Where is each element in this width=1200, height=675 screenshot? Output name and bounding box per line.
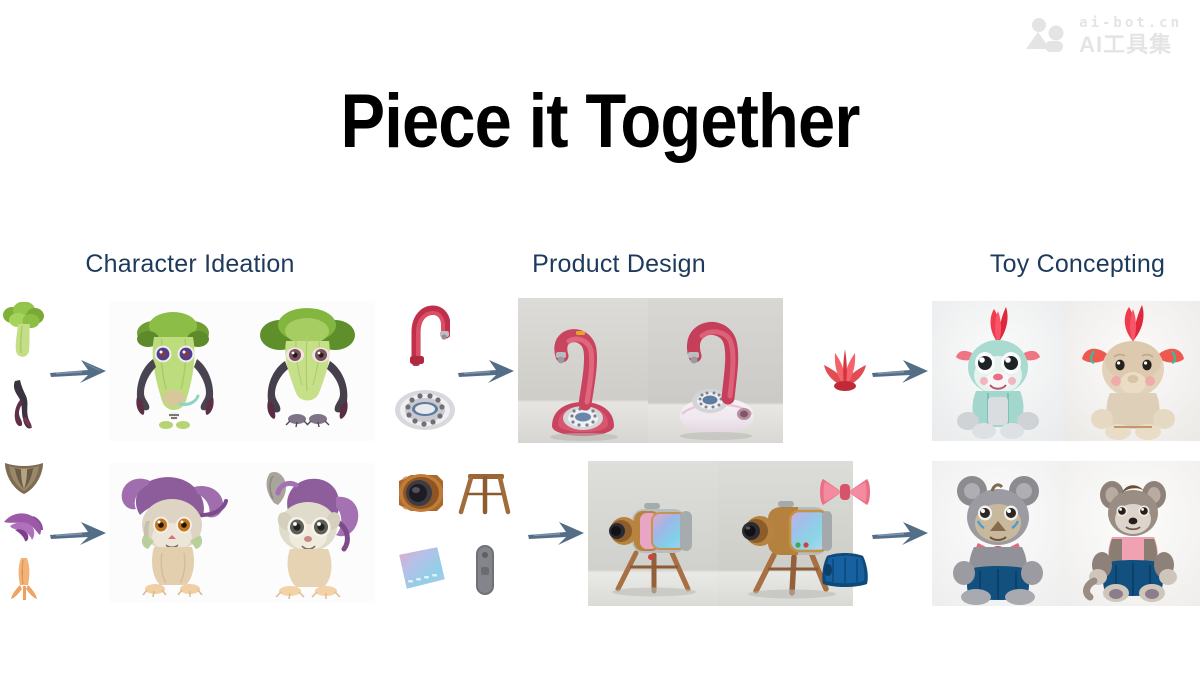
column-product-design: Product Design <box>380 250 810 630</box>
parts-cluster <box>820 298 870 443</box>
pipeline-board: Character Ideation <box>0 250 1200 630</box>
copper-camera-lens-part <box>393 467 449 524</box>
parts-cluster <box>380 458 526 608</box>
column-heading-character-ideation: Character Ideation <box>0 250 380 279</box>
blue-skirt-part <box>819 550 871 593</box>
wooden-tripod-legs-part <box>456 468 514 521</box>
watermark-domain: ai-bot.cn <box>1079 16 1182 30</box>
row-faucet-phone <box>394 298 783 443</box>
rotary-phone-dial-part <box>394 388 456 437</box>
output-pair <box>518 298 783 443</box>
watermark: ai-bot.cn AI工具集 <box>1025 16 1182 56</box>
tan-mohawk-plush-toy <box>1064 301 1200 441</box>
two-people-logo-icon <box>1025 16 1069 56</box>
retro-projector-concept-a <box>588 461 718 606</box>
column-toy-concepting: Toy Concepting <box>810 250 1200 630</box>
column-character-ideation: Character Ideation <box>0 250 380 630</box>
right-arrow-icon <box>48 354 110 388</box>
dark-antler-claw-part <box>7 378 41 439</box>
broccoli-creature-front-view <box>110 301 240 441</box>
row-retro-projector <box>380 458 853 608</box>
column-heading-toy-concepting: Toy Concepting <box>955 250 1200 279</box>
purple-hair-tuft-part <box>1 508 47 549</box>
output-pair <box>932 461 1200 606</box>
iridescent-screen-panel-part <box>392 542 450 599</box>
pink-faucet-phone-concept-b <box>648 298 783 443</box>
row-mohawk-plush <box>820 298 1200 443</box>
output-pair <box>110 301 375 441</box>
output-pair <box>932 301 1200 441</box>
row-broccoli-monster <box>0 298 375 443</box>
parts-cluster <box>0 458 48 608</box>
pink-faucet-phone-concept-a <box>518 298 648 443</box>
red-feather-crest-part <box>820 345 870 396</box>
right-arrow-icon <box>870 354 932 388</box>
mint-mohawk-plush-toy <box>932 301 1064 441</box>
right-arrow-icon <box>870 516 932 550</box>
parts-cluster <box>394 298 456 443</box>
grey-bear-plush-toy <box>932 461 1064 606</box>
furry-creature-horned <box>240 463 375 603</box>
brown-lemur-plush-toy <box>1064 461 1200 606</box>
red-faucet-spout-part <box>400 304 450 371</box>
right-arrow-icon <box>48 516 110 550</box>
parts-cluster <box>0 298 48 443</box>
broccoli-floret-part <box>1 302 47 365</box>
brown-fur-patch-part <box>1 459 47 502</box>
watermark-brand: AI工具集 <box>1079 34 1182 56</box>
broccoli-creature-alt-view <box>240 301 375 441</box>
right-arrow-icon <box>526 516 588 550</box>
right-arrow-icon <box>456 354 518 388</box>
parts-cluster <box>820 458 870 608</box>
pink-bow-tie-part <box>818 474 872 515</box>
row-bowtie-plush <box>820 458 1200 608</box>
row-furry-creature <box>0 458 375 608</box>
column-heading-product-design: Product Design <box>428 250 810 279</box>
orange-bird-foot-part <box>7 556 41 607</box>
page-title: Piece it Together <box>72 78 1128 165</box>
furry-creature-orange-eyes <box>110 463 240 603</box>
grey-remote-part <box>471 543 499 602</box>
output-pair <box>110 463 375 603</box>
